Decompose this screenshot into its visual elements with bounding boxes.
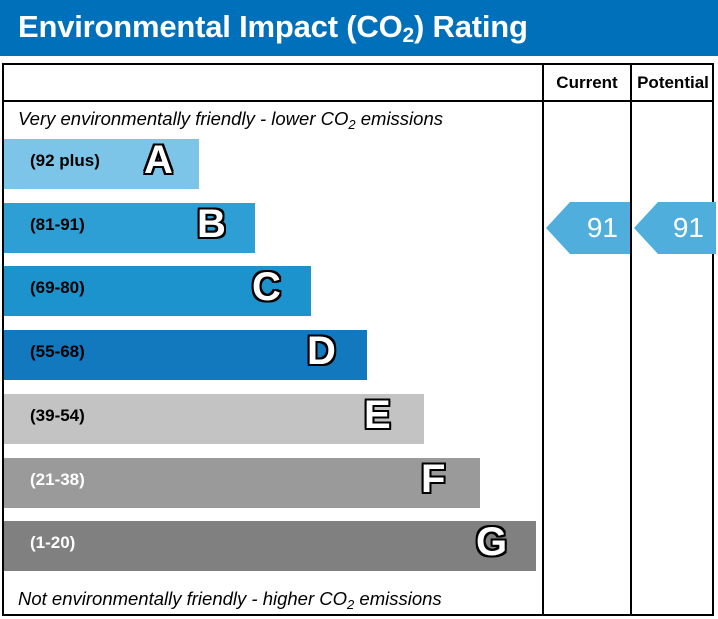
band-letter-b: B [197,200,226,250]
page-title: Environmental Impact (CO2) Rating [18,7,528,51]
column-header-current: Current [544,65,630,100]
band-bar-g [4,521,536,571]
chart-area: Very environmentally friendly - lower CO… [4,102,542,616]
column-divider-current [542,65,544,614]
rating-band-e: (39-54)E [4,391,542,447]
column-divider-potential [630,65,632,614]
column-header-potential: Potential [632,65,714,100]
caption-top-prefix: Very environmentally friendly - lower CO [18,108,348,129]
caption-bottom: Not environmentally friendly - higher CO… [18,582,442,616]
caption-bottom-suffix: emissions [354,588,441,609]
band-letter-f: F [421,455,445,505]
page-title-suffix: ) Rating [414,9,528,44]
caption-top-subscript: 2 [348,117,355,132]
band-letter-e: E [364,391,391,441]
band-letter-c: C [252,263,281,313]
page-title-prefix: Environmental Impact (CO [18,9,403,44]
band-range-g: (1-20) [30,518,75,568]
band-letter-d: D [307,327,336,377]
rating-band-d: (55-68)D [4,327,542,383]
caption-top-suffix: emissions [356,108,443,129]
band-range-b: (81-91) [30,200,85,250]
rating-band-f: (21-38)F [4,455,542,511]
band-letter-a: A [144,136,173,186]
rating-value-potential: 91 [673,202,704,254]
rating-arrow-current: 91 [546,202,630,254]
band-range-c: (69-80) [30,263,85,313]
caption-bottom-prefix: Not environmentally friendly - higher CO [18,588,347,609]
caption-top: Very environmentally friendly - lower CO… [18,102,443,136]
rating-band-b: (81-91)B [4,200,542,256]
epc-environmental-impact-chart: Environmental Impact (CO2) Rating Curren… [0,0,718,619]
rating-value-current: 91 [587,202,618,254]
rating-band-a: (92 plus)A [4,136,542,192]
rating-band-c: (69-80)C [4,263,542,319]
rating-arrow-potential: 91 [634,202,716,254]
band-range-d: (55-68) [30,327,85,377]
band-range-a: (92 plus) [30,136,100,186]
band-range-e: (39-54) [30,391,85,441]
band-range-f: (21-38) [30,455,85,505]
rating-table: Current Potential Very environmentally f… [2,63,714,616]
rating-band-g: (1-20)G [4,518,542,574]
title-band: Environmental Impact (CO2) Rating [0,0,718,56]
band-letter-g: G [476,518,507,568]
caption-bottom-subscript: 2 [347,597,354,612]
page-title-subscript: 2 [403,24,414,47]
rating-bands: (92 plus)A(81-91)B(69-80)C(55-68)D(39-54… [4,136,542,582]
